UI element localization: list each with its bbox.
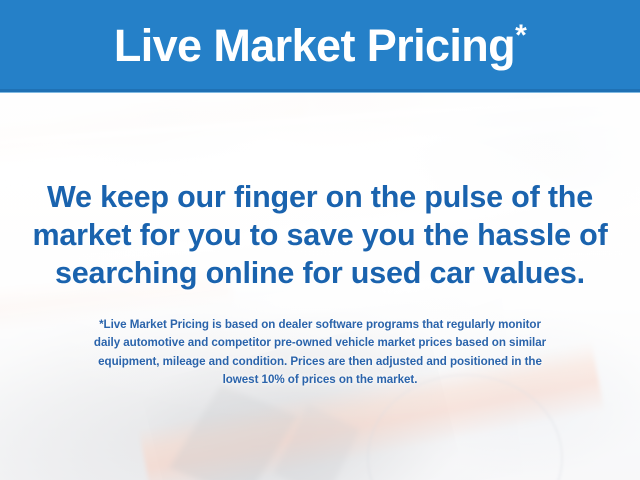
headline-line: market for you to save you the hassle of — [0, 216, 640, 254]
headline: We keep our finger on the pulse of the m… — [0, 178, 640, 292]
live-market-pricing-banner: Live Market Pricing* We keep our finger … — [0, 0, 640, 480]
banner-title-asterisk: * — [515, 19, 526, 52]
disclaimer-line: equipment, mileage and condition. Prices… — [18, 353, 622, 371]
disclaimer-line: daily automotive and competitor pre-owne… — [18, 334, 622, 352]
banner-title: Live Market Pricing* — [114, 23, 526, 68]
header-band: Live Market Pricing* — [0, 0, 640, 89]
disclaimer-line: lowest 10% of prices on the market. — [18, 371, 622, 389]
disclaimer-text: *Live Market Pricing is based on dealer … — [18, 316, 622, 390]
banner-title-text: Live Market Pricing — [114, 20, 515, 71]
disclaimer-line: *Live Market Pricing is based on dealer … — [18, 316, 622, 334]
headline-line: We keep our finger on the pulse of the — [0, 178, 640, 216]
headline-line: searching online for used car values. — [0, 254, 640, 292]
banner-content: We keep our finger on the pulse of the m… — [0, 92, 640, 480]
header-band-hairline — [0, 92, 640, 93]
